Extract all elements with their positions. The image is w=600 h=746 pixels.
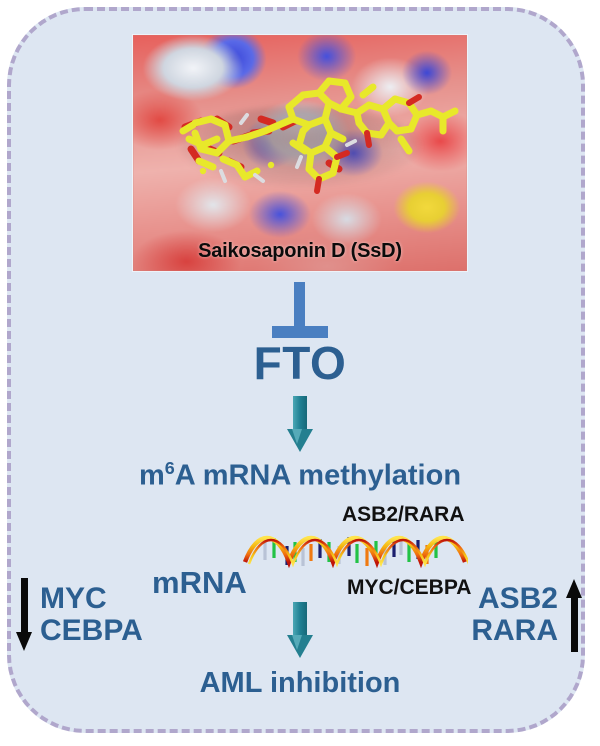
arrow-tip [566, 579, 582, 598]
m6a-rest: A mRNA methylation [175, 460, 461, 492]
node-aml-inhibition: AML inhibition [0, 667, 600, 700]
inhibition-bar-icon [268, 282, 332, 340]
figure-caption: Saikosaponin D (SsD) [133, 240, 467, 263]
node-fto: FTO [0, 336, 600, 390]
downregulated-gene-list: MYC CEBPA [40, 583, 143, 648]
down-arrow-icon-myc-cebpa [16, 578, 32, 652]
protein-ligand-figure: Saikosaponin D (SsD) [133, 35, 467, 271]
gene-myc: MYC [40, 583, 143, 615]
node-m6a-methylation: m6A mRNA methylation [0, 458, 600, 493]
arrow-shaft [293, 602, 307, 638]
m6a-superscript: 6 [165, 458, 175, 478]
upregulation-group: ASB2 RARA [471, 578, 582, 652]
arrow-shaft [293, 396, 307, 432]
up-arrow-icon-asb2-rara [566, 578, 582, 652]
down-arrow-icon-fto-to-m6a [287, 396, 313, 452]
upregulated-gene-list: ASB2 RARA [471, 583, 558, 648]
transcript-label-asb2-rara: ASB2/RARA [342, 503, 465, 527]
saikosaponin-d-ligand-sticks [133, 35, 467, 271]
downregulation-group: MYC CEBPA [16, 578, 143, 652]
gene-cebpa: CEBPA [40, 615, 143, 647]
rna-helix-icon [243, 528, 468, 576]
gene-asb2: ASB2 [471, 583, 558, 615]
arrow-head-highlight [292, 429, 302, 444]
inhibition-stem [294, 282, 305, 330]
arrow-bar [571, 594, 578, 652]
node-mrna: mRNA [152, 565, 247, 601]
arrow-head-highlight [292, 635, 302, 650]
arrow-tip [16, 632, 32, 651]
arrow-bar [21, 578, 28, 636]
m6a-prefix: m [139, 460, 165, 492]
transcript-label-myc-cebpa: MYC/CEBPA [347, 576, 471, 600]
gene-rara: RARA [471, 615, 558, 647]
down-arrow-icon-mrna-to-aml [287, 602, 313, 658]
graphical-abstract: Saikosaponin D (SsD) FTO m6A mRNA methyl… [0, 0, 600, 746]
